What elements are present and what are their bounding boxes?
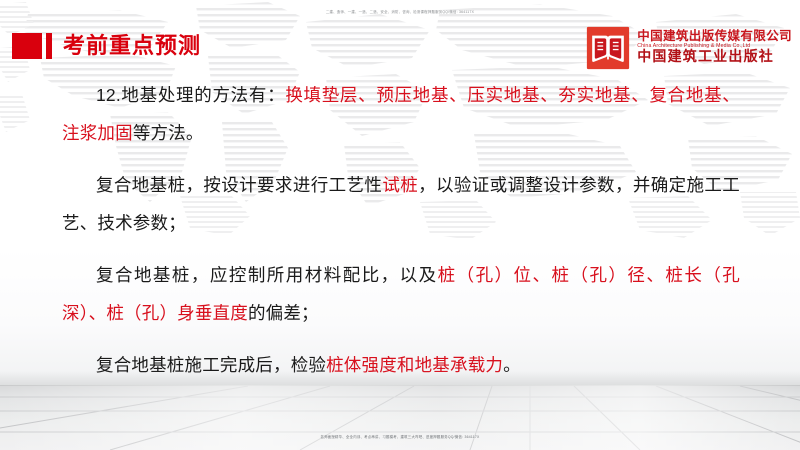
floor-wall-shadow [0,371,800,385]
plain-text: 12.地基处理的方法有： [96,85,285,105]
plain-text: 复合地基桩，按设计要求进行工艺性 [96,175,382,195]
plain-text: 的偏差； [248,303,319,323]
paragraph-item-12: 12.地基处理的方法有：换填垫层、预压地基、压实地基、夯实地基、复合地基、注浆加… [62,76,740,152]
plain-text: 复合地基桩，应控制所用材料配比，以及 [96,265,438,285]
title-accent-bar [46,33,52,59]
page-title: 考前重点预测 [12,30,201,62]
page-title-label: 考前重点预测 [63,35,201,57]
paragraph-deviation-control: 复合地基桩，应控制所用材料配比，以及桩（孔）位、桩（孔）径、桩长（孔深）、桩（孔… [62,256,740,332]
publisher-imprint-cn: 中国建筑工业出版社 [637,50,792,67]
publisher-logo: 中国建筑出版传媒有限公司 China Architecture Publishi… [586,26,792,70]
publisher-name-cn: 中国建筑出版传媒有限公司 [637,29,792,43]
slide: 二建、造师、一建、一造、二造、安全、消防、咨询、检测课程押题服务QQ/微信: 3… [0,0,800,450]
floor-reflection [0,385,800,450]
highlighted-text: 试桩 [382,175,418,195]
slide-body: 12.地基处理的方法有：换填垫层、预压地基、压实地基、夯实地基、复合地基、注浆加… [62,76,740,384]
slide-header: 考前重点预测 [0,0,800,74]
publisher-logo-text: 中国建筑出版传媒有限公司 China Architecture Publishi… [637,29,792,67]
plain-text: 等方法。 [133,123,204,143]
paragraph-trial-pile: 复合地基桩，按设计要求进行工艺性试桩，以验证或调整设计参数，并确定施工工艺、技术… [62,166,740,242]
title-accent-block [12,33,42,59]
publisher-logo-icon [586,26,630,70]
perspective-floor [0,385,800,450]
